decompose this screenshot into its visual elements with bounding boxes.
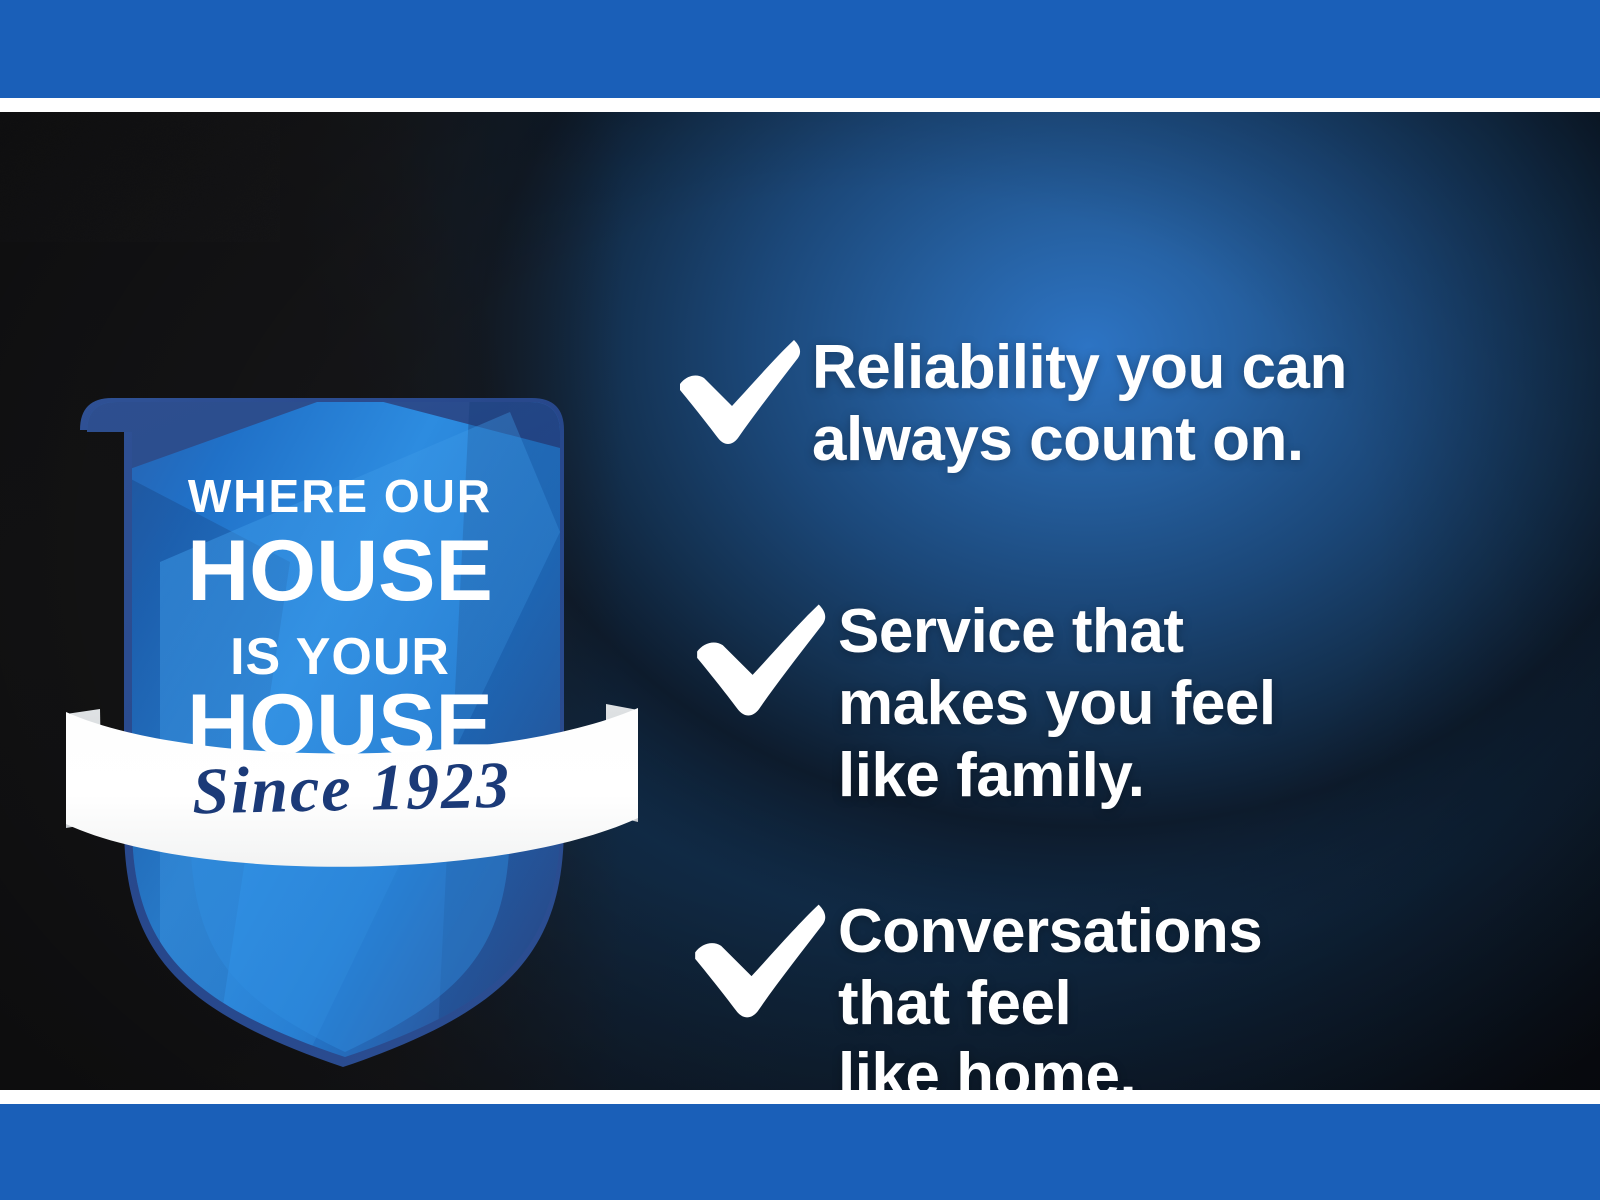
badge-line-1: WHERE OUR [188,470,492,522]
bottom-blue-band [0,1104,1600,1200]
benefit-item-2: Service that makes you feel like family. [688,596,1276,812]
checkmark-icon [672,332,812,452]
bottom-white-rule [0,1090,1600,1104]
benefit-text-2: Service that makes you feel like family. [838,596,1276,812]
poster-stage: WHERE OUR HOUSE IS YOUR HOUSE Since 1923 [0,112,1600,1090]
checkmark-icon [686,896,838,1026]
benefit-item-1: Reliability you can always count on. [672,332,1347,476]
benefit-text-1: Reliability you can always count on. [812,332,1347,476]
background-noise-texture [0,112,280,242]
benefits-list: Reliability you can always count on. Ser… [672,224,1552,1090]
top-blue-band [0,0,1600,98]
badge-line-2: HOUSE [187,523,493,619]
shield-badge: WHERE OUR HOUSE IS YOUR HOUSE Since 1923 [40,262,660,1090]
ribbon-label: Since 1923 [191,749,511,829]
benefit-text-3: Conversations that feel like home. [838,896,1262,1090]
top-white-rule [0,98,1600,112]
benefit-item-3: Conversations that feel like home. [686,896,1262,1090]
checkmark-icon [688,596,838,724]
promo-poster: WHERE OUR HOUSE IS YOUR HOUSE Since 1923 [0,0,1600,1200]
